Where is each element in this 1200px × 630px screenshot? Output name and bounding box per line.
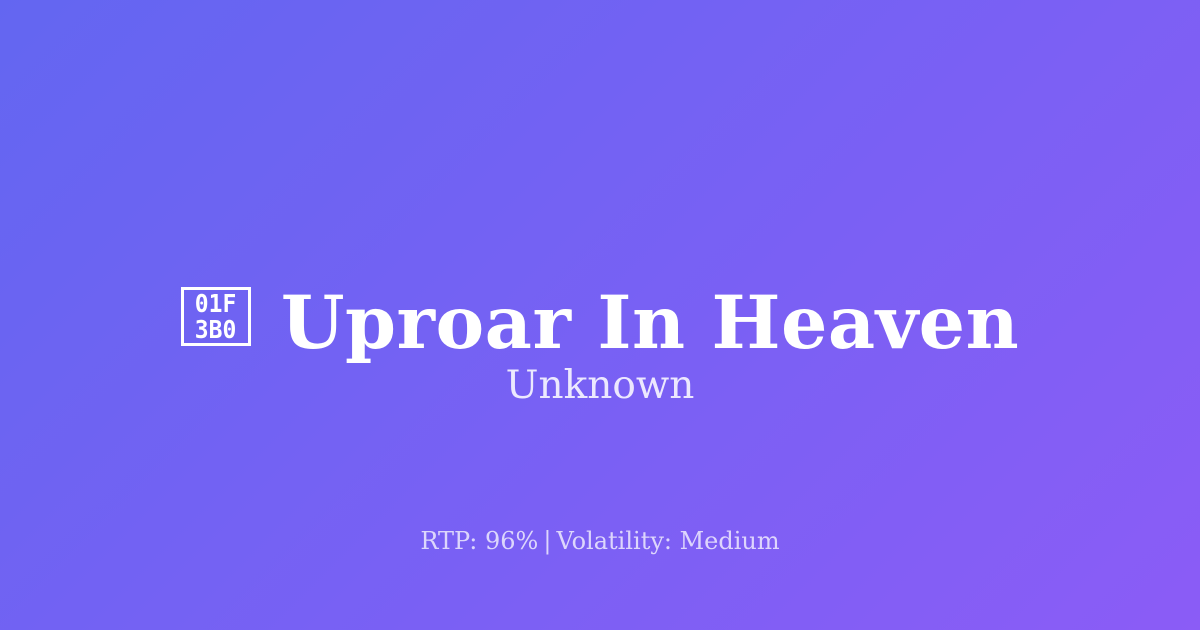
game-preview-card: 01F 3B0 Uproar In Heaven Unknown RTP: 96… (0, 0, 1200, 630)
title-line: 01F 3B0 Uproar In Heaven (181, 287, 1019, 360)
rtp-label: RTP: 96% (420, 527, 538, 555)
provider-subtitle: Unknown (0, 362, 1200, 410)
tofu-codepoint-bottom: 3B0 (195, 317, 237, 343)
page-title: Uproar In Heaven (281, 287, 1019, 360)
tofu-codepoint-top: 01F (195, 291, 237, 317)
meta-separator: | (538, 527, 556, 555)
title-row: 01F 3B0 Uproar In Heaven (0, 0, 1200, 360)
volatility-label: Volatility: Medium (556, 527, 779, 555)
game-meta-line: RTP: 96%|Volatility: Medium (0, 524, 1200, 558)
tofu-codepoint-rows: 01F 3B0 (184, 290, 248, 343)
slot-machine-emoji-icon: 01F 3B0 (181, 287, 251, 346)
